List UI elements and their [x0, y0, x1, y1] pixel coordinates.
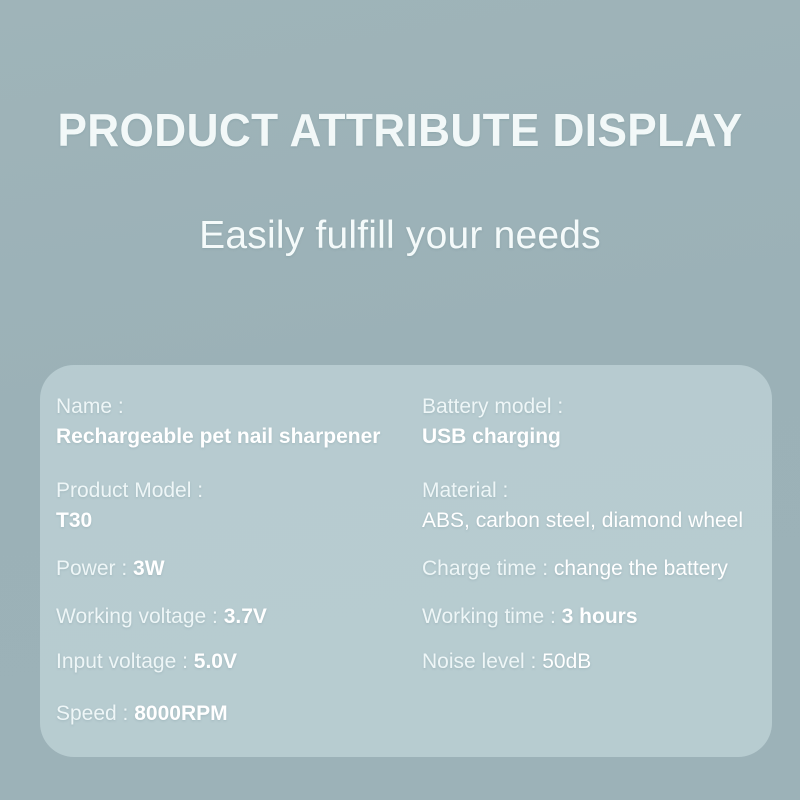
- page-subtitle: Easily fulfill your needs: [0, 212, 800, 260]
- spec-value: change the battery: [554, 557, 728, 580]
- spec-row: Speed : 8000RPM: [56, 700, 228, 728]
- spec-value: USB charging: [422, 423, 563, 451]
- spec-value: 50dB: [542, 650, 591, 673]
- product-attribute-poster: PRODUCT ATTRIBUTE DISPLAY Easily fulfill…: [0, 0, 800, 800]
- spec-label: Working voltage :: [56, 605, 218, 628]
- spec-value: Rechargeable pet nail sharpener: [56, 423, 380, 451]
- spec-row: Working time : 3 hours: [422, 603, 638, 631]
- spec-value: 3 hours: [562, 605, 638, 628]
- spec-row: Power : 3W: [56, 555, 165, 583]
- spec-label: Battery model :: [422, 395, 563, 418]
- spec-row: Product Model : T30: [56, 477, 203, 535]
- spec-value: 8000RPM: [134, 702, 227, 725]
- spec-value: T30: [56, 507, 203, 535]
- spec-label: Material :: [422, 479, 508, 502]
- spec-panel: Name : Rechargeable pet nail sharpener P…: [40, 365, 772, 757]
- spec-row: Charge time : change the battery: [422, 555, 728, 583]
- spec-label: Charge time :: [422, 557, 548, 580]
- spec-row: Working voltage : 3.7V: [56, 603, 267, 631]
- spec-value: 3W: [133, 557, 165, 580]
- spec-row: Name : Rechargeable pet nail sharpener: [56, 393, 380, 451]
- spec-label: Power :: [56, 557, 127, 580]
- spec-label: Noise level :: [422, 650, 536, 673]
- spec-row: Noise level : 50dB: [422, 648, 591, 676]
- spec-value: 5.0V: [194, 650, 237, 673]
- spec-row: Input voltage : 5.0V: [56, 648, 237, 676]
- spec-row: Battery model : USB charging: [422, 393, 563, 451]
- spec-row: Material : ABS, carbon steel, diamond wh…: [422, 477, 743, 535]
- spec-label: Speed :: [56, 702, 128, 725]
- spec-label: Product Model :: [56, 479, 203, 502]
- spec-value: ABS, carbon steel, diamond wheel: [422, 507, 743, 535]
- page-title: PRODUCT ATTRIBUTE DISPLAY: [16, 104, 784, 156]
- spec-label: Input voltage :: [56, 650, 188, 673]
- spec-label: Name :: [56, 395, 124, 418]
- spec-value: 3.7V: [224, 605, 267, 628]
- spec-label: Working time :: [422, 605, 556, 628]
